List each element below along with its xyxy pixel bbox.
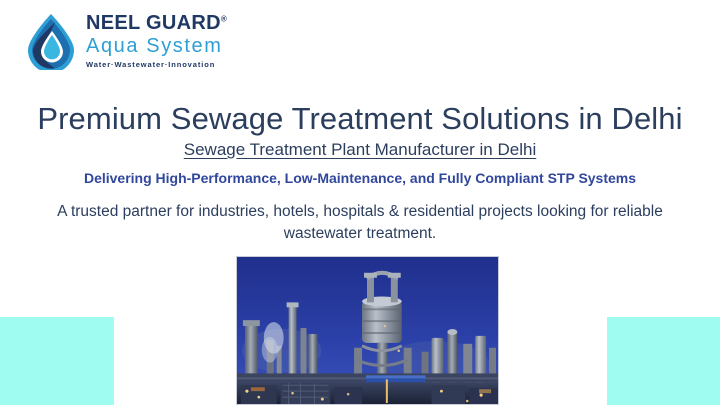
brand-name-secondary: Aqua System: [86, 36, 227, 56]
page-subtitle: Sewage Treatment Plant Manufacturer in D…: [0, 140, 720, 160]
water-droplet-icon: [24, 12, 78, 70]
brand-tagline: Water·Wastewater·Innovation: [86, 61, 227, 69]
decorative-block-left: [0, 317, 114, 405]
value-proposition-tagline: Delivering High-Performance, Low-Mainten…: [0, 170, 720, 186]
registered-trademark-icon: ®: [221, 15, 227, 24]
decorative-block-right: [607, 317, 720, 405]
brand-logo: NEEL GUARD® Aqua System Water·Wastewater…: [24, 12, 227, 70]
page-title: Premium Sewage Treatment Solutions in De…: [0, 101, 720, 137]
brand-wordmark: NEEL GUARD® Aqua System Water·Wastewater…: [86, 13, 227, 69]
brand-name-primary: NEEL GUARD®: [86, 13, 227, 33]
presentation-slide: NEEL GUARD® Aqua System Water·Wastewater…: [0, 0, 720, 405]
body-paragraph: A trusted partner for industries, hotels…: [38, 201, 682, 246]
plant-photo: [236, 256, 499, 405]
brand-name-text: NEEL GUARD: [86, 12, 221, 34]
